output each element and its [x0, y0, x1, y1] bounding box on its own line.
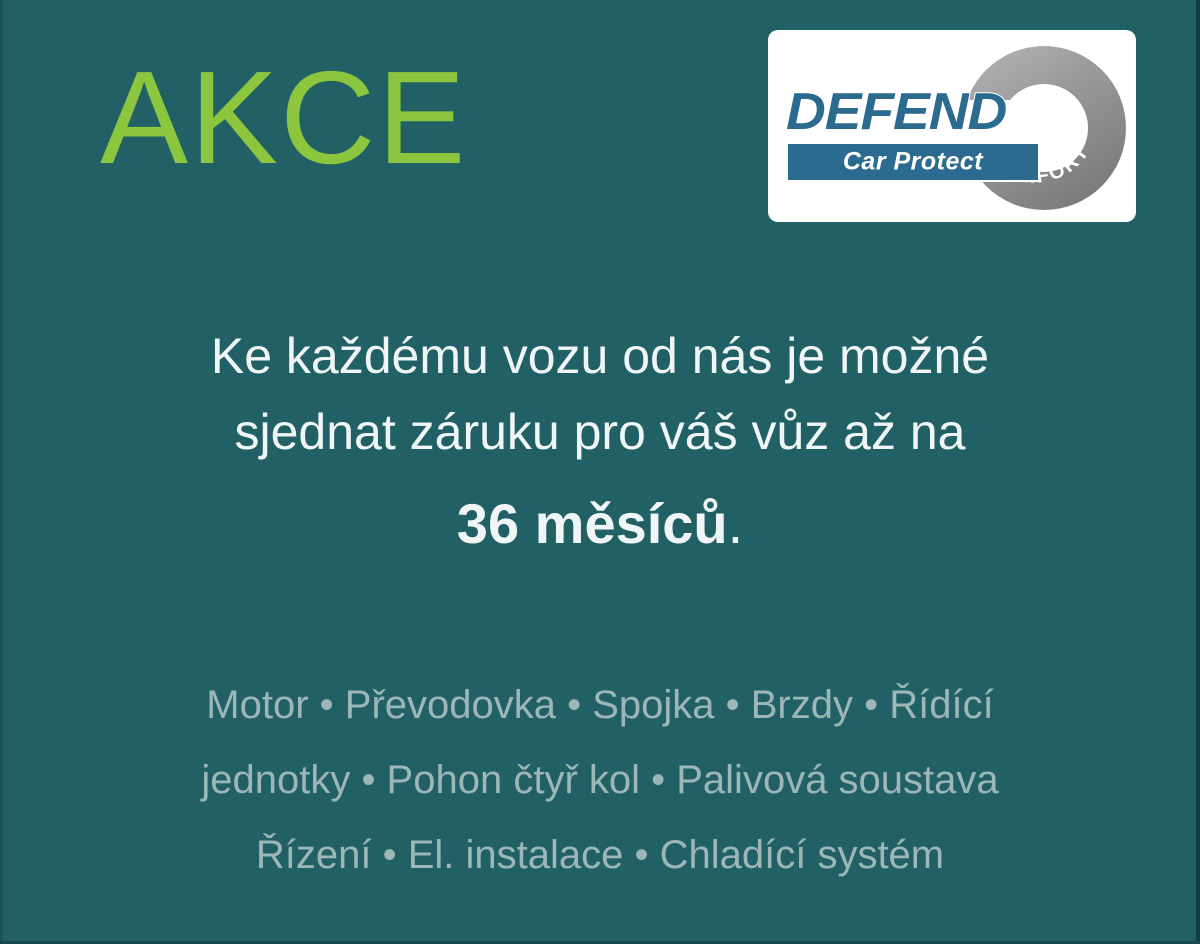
promo-duration: 36 měsíců: [457, 492, 728, 555]
coverage-line-3: Řízení • El. instalace • Chladící systém: [0, 818, 1200, 893]
defend-logo-card: COMFORT DEFEND Car Protect: [768, 30, 1136, 222]
promo-emphasis-line: 36 měsíců.: [0, 486, 1200, 562]
promo-period: .: [728, 492, 744, 555]
coverage-line-2: jednotky • Pohon čtyř kol • Palivová sou…: [0, 743, 1200, 818]
promo-line-1: Ke každému vozu od nás je možné: [0, 318, 1200, 394]
car-protect-label: Car Protect: [788, 148, 1038, 177]
promo-slide: AKCE: [0, 0, 1200, 944]
coverage-line-1: Motor • Převodovka • Spojka • Brzdy • Ří…: [0, 668, 1200, 743]
car-protect-bar: Car Protect: [786, 142, 1040, 182]
page-title: AKCE: [100, 52, 467, 184]
logo-inner: COMFORT DEFEND Car Protect: [768, 30, 1136, 222]
defend-wordmark: DEFEND: [786, 82, 1006, 142]
promo-text-block: Ke každému vozu od nás je možné sjednat …: [0, 318, 1200, 562]
promo-line-2: sjednat záruku pro váš vůz až na: [0, 394, 1200, 470]
coverage-list: Motor • Převodovka • Spojka • Brzdy • Ří…: [0, 668, 1200, 893]
